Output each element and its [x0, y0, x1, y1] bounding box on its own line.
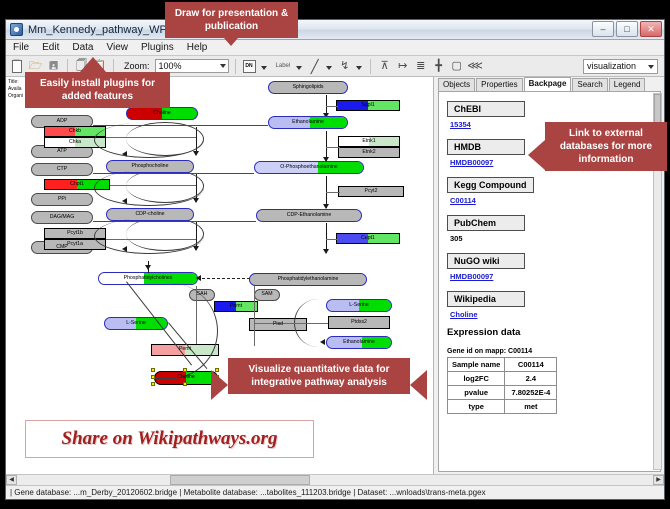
datanode-icon-label: DN [242, 59, 257, 74]
scrollbar-track[interactable] [17, 475, 653, 485]
zoom-combo[interactable]: 100% [155, 59, 229, 73]
db-header-wikipedia: Wikipedia [447, 291, 525, 307]
expr-value: 2.4 [505, 372, 557, 386]
edge [296, 323, 328, 324]
callout-plugins: Easily install plugins for added feature… [25, 72, 170, 108]
edge [93, 221, 256, 222]
arrow-icon [145, 265, 151, 270]
callout-links: Link to external databases for more info… [545, 122, 667, 171]
gene-node-etnk1[interactable]: Etnk1 [338, 136, 400, 147]
selection-handle[interactable] [183, 368, 187, 372]
edge [93, 173, 254, 174]
share-text: Share on Wikipathways.org [62, 428, 278, 450]
status-bar: | Gene database: ...m_Derby_20120602.bri… [6, 485, 664, 499]
chevron-down-icon[interactable] [356, 66, 362, 70]
chevron-down-icon[interactable] [261, 66, 267, 70]
stack-icon[interactable]: ≣ [413, 59, 428, 74]
edge [326, 192, 340, 193]
db-link-kegg-compound[interactable]: C00114 [450, 196, 660, 205]
edge [326, 147, 340, 148]
metabolite-node[interactable]: PPi [31, 193, 93, 206]
canvas-horizontal-scrollbar[interactable]: ◀ ▶ [6, 474, 664, 485]
metabolite-node-sam[interactable]: SAM [254, 289, 280, 301]
callout-share: Share on Wikipathways.org [25, 420, 314, 458]
expr-key: log2FC [448, 372, 505, 386]
application-icon [10, 23, 23, 36]
chevron-down-icon[interactable] [296, 66, 302, 70]
edge [326, 106, 338, 107]
pathway-diagram[interactable]: ADP ATP CTP PPi DAG/MAG CMP Choline Phos… [6, 77, 433, 474]
chevron-down-icon[interactable] [326, 66, 332, 70]
toolbar-separator [370, 59, 371, 74]
db-header-kegg-compound: Kegg Compound [447, 177, 534, 193]
db-header-chebi: ChEBI [447, 101, 525, 117]
metabolite-node-l-serine[interactable]: L-Serine [326, 299, 392, 312]
zoom-value: 100% [159, 61, 182, 71]
callout-arrow-left [528, 140, 545, 170]
panel-tab-strip: Objects Properties Backpage Search Legen… [434, 77, 664, 91]
table-row: log2FC 2.4 [448, 372, 557, 386]
menu-bar: File Edit Data View Plugins Help [6, 40, 664, 56]
visualization-combo[interactable]: visualization [583, 59, 658, 74]
expression-data-table: Sample name C00114 log2FC 2.4 pvalue 7.8… [447, 357, 557, 414]
expr-key: Sample name [448, 358, 505, 372]
datanode-icon[interactable]: DN [242, 59, 257, 74]
menu-item-help[interactable]: Help [185, 42, 210, 53]
gene-node-sgpl1[interactable]: Sgpl1 [336, 100, 400, 111]
align-left-icon[interactable]: ↦ [395, 59, 410, 74]
selection-handle[interactable] [151, 368, 155, 372]
callout-arrow-up [80, 57, 106, 72]
tab-search[interactable]: Search [572, 78, 607, 91]
metabolite-node-phosphatidylcholines[interactable]: Phosphatidylcholines [98, 272, 198, 285]
expr-value: C00114 [505, 358, 557, 372]
metabolite-node-cdp-ethanolamine[interactable]: CDP-Ethanolamine [256, 209, 362, 222]
expr-value: met [505, 400, 557, 414]
selection-handle[interactable] [151, 375, 155, 379]
menu-item-data[interactable]: Data [70, 42, 95, 53]
tab-legend[interactable]: Legend [609, 78, 646, 91]
db-header-hmdb: HMDB [447, 139, 525, 155]
curve-edge [94, 122, 204, 158]
group-icon[interactable]: ▢ [449, 59, 464, 74]
menu-item-file[interactable]: File [11, 42, 31, 53]
scrollbar-thumb[interactable] [170, 475, 310, 485]
curve-edge [94, 170, 204, 206]
pathway-canvas-area[interactable]: Title: Availa Organi [6, 77, 434, 474]
label-tool-label[interactable]: Label [276, 63, 291, 69]
menu-item-view[interactable]: View [104, 42, 130, 53]
expression-data-title: Expression data [447, 327, 660, 338]
metabolite-node[interactable]: DAG/MAG [31, 211, 93, 224]
menu-item-plugins[interactable]: Plugins [139, 42, 176, 53]
maximize-button[interactable]: □ [616, 21, 638, 37]
interaction-icon[interactable]: ↯ [337, 59, 352, 74]
scroll-right-button[interactable]: ▶ [653, 475, 664, 485]
gene-node-cept1[interactable]: Cept1 [336, 233, 400, 244]
gene-node-ptdss2[interactable]: Ptdss2 [328, 316, 390, 329]
callout-draw: Draw for presentation & publication [165, 2, 298, 38]
table-row: Sample name C00114 [448, 358, 557, 372]
order-icon[interactable]: ⋘ [467, 59, 482, 74]
metabolite-node[interactable]: CTP [31, 163, 93, 176]
chevron-down-icon [220, 64, 226, 68]
metabolite-node-o-phosphoethanolamine[interactable]: O-Phosphoethanolamine [254, 161, 364, 174]
status-bar-text: | Gene database: ...m_Derby_20120602.bri… [10, 488, 486, 497]
edge-dashed [202, 278, 250, 279]
tab-properties[interactable]: Properties [476, 78, 522, 91]
visualization-value: visualization [587, 61, 636, 71]
arrow-icon [193, 151, 199, 156]
db-link-wikipedia[interactable]: Choline [450, 310, 660, 319]
expr-value: 7.80252E-4 [505, 386, 557, 400]
align-bottom-icon[interactable]: ⊼ [377, 59, 392, 74]
callout-arrow-left [410, 370, 427, 400]
tab-backpage[interactable]: Backpage [524, 77, 572, 91]
callout-arrow-right [211, 370, 228, 400]
metabolite-node-choline[interactable]: Choline [126, 107, 198, 120]
metabolite-node-phosphatidylethanolamine[interactable]: Phosphatidylethanolamine [249, 273, 367, 286]
zoom-label: Zoom: [124, 61, 150, 71]
chevron-down-icon [648, 65, 654, 69]
table-row: type met [448, 400, 557, 414]
edge [93, 125, 268, 126]
title-bar: Mm_Kennedy_pathway_WP1771_45176.gpml – □… [6, 20, 664, 40]
selection-handle[interactable] [151, 382, 155, 386]
metabolite-node-ethanolamine-2[interactable]: Ethanolamine [326, 336, 392, 349]
db-header-nugo-wiki: NuGO wiki [447, 253, 525, 269]
tab-objects[interactable]: Objects [438, 78, 475, 91]
scroll-left-button[interactable]: ◀ [6, 475, 17, 485]
line-icon[interactable]: ╱ [307, 59, 322, 74]
new-file-icon[interactable]: 🗋 [10, 59, 25, 74]
db-value-pubchem: 305 [450, 234, 660, 243]
close-button[interactable]: ✕ [640, 21, 662, 37]
arrow-icon [323, 249, 329, 254]
expr-key: type [448, 400, 505, 414]
edge [326, 239, 338, 240]
edge [254, 286, 255, 346]
arrow-icon [193, 198, 199, 203]
curve-edge [94, 218, 204, 254]
window-controls: – □ ✕ [592, 21, 662, 37]
menu-item-edit[interactable]: Edit [40, 42, 61, 53]
table-row: pvalue 7.80252E-4 [448, 386, 557, 400]
minimize-button[interactable]: – [592, 21, 614, 37]
gene-node-pemt[interactable]: Pemt [214, 301, 258, 312]
toolbar-separator [235, 59, 236, 74]
arrow-icon [196, 275, 201, 281]
db-link-nugo-wiki[interactable]: HMDB00097 [450, 272, 660, 281]
gene-node-etnk2[interactable]: Etnk2 [338, 147, 400, 158]
gene-id-on-mapp: Gene id on mapp: C00114 [447, 348, 660, 355]
arrow-icon [193, 246, 199, 251]
distribute-icon[interactable]: ╋ [431, 59, 446, 74]
expr-key: pvalue [448, 386, 505, 400]
metabolite-node-ethanolamine[interactable]: Ethanolamine [268, 116, 348, 129]
callout-visualize: Visualize quantitative data for integrat… [228, 358, 410, 394]
selection-handle[interactable] [183, 382, 187, 386]
metabolite-node-sphingolipids[interactable]: Sphingolipids [268, 81, 348, 94]
db-header-pubchem: PubChem [447, 215, 525, 231]
gene-node-pcyt2[interactable]: Pcyt2 [338, 186, 404, 197]
